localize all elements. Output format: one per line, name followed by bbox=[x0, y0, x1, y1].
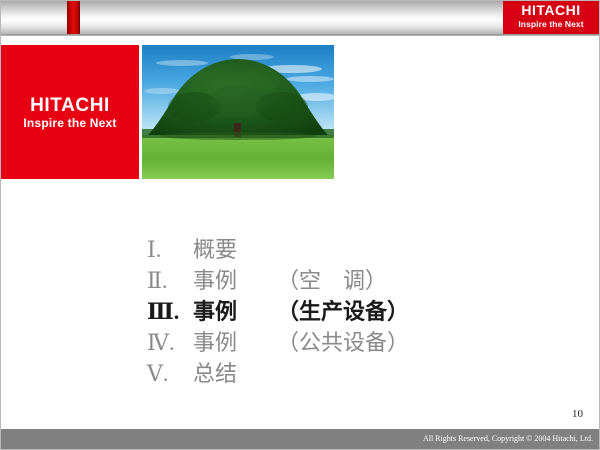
agenda-list: Ⅰ. 概要 Ⅱ. 事例 （空 调） Ⅲ. 事例 （生产设备） Ⅳ. 事例 （公共… bbox=[147, 232, 477, 387]
footer-bar: All Rights Reserved, Copyright © 2004 Hi… bbox=[1, 429, 600, 449]
header-logo-tagline: Inspire the Next bbox=[503, 19, 599, 30]
agenda-item-4-title: 事例 bbox=[193, 325, 277, 357]
agenda-item-1[interactable]: Ⅰ. 概要 bbox=[147, 232, 477, 263]
footer-copyright: All Rights Reserved, Copyright © 2004 Hi… bbox=[423, 434, 593, 443]
agenda-item-5-numeral: Ⅴ. bbox=[147, 361, 193, 387]
hero-row: HITACHI Inspire the Next bbox=[1, 45, 334, 179]
agenda-item-3-detail: （生产设备） bbox=[277, 294, 409, 326]
agenda-item-2-title: 事例 bbox=[193, 263, 277, 295]
agenda-item-5-title: 总结 bbox=[193, 356, 277, 388]
agenda-item-2-numeral: Ⅱ. bbox=[147, 268, 193, 294]
agenda-item-4-numeral: Ⅳ. bbox=[147, 330, 193, 356]
agenda-item-1-numeral: Ⅰ. bbox=[147, 237, 193, 263]
agenda-item-5[interactable]: Ⅴ. 总结 bbox=[147, 356, 477, 387]
header-underline bbox=[1, 34, 600, 36]
agenda-item-4-detail: （公共设备） bbox=[277, 325, 409, 357]
header-red-accent-tab bbox=[67, 1, 80, 34]
header-logo-wordmark: HITACHI bbox=[503, 2, 599, 19]
brand-tagline: Inspire the Next bbox=[1, 116, 139, 130]
brand-wordmark: HITACHI bbox=[1, 95, 139, 117]
page-number: 10 bbox=[572, 408, 583, 420]
brand-logo-block: HITACHI Inspire the Next bbox=[1, 45, 139, 179]
slide-canvas: HITACHI Inspire the Next HITACHI Inspire… bbox=[0, 0, 600, 450]
agenda-item-3[interactable]: Ⅲ. 事例 （生产设备） bbox=[147, 294, 477, 325]
agenda-item-1-title: 概要 bbox=[193, 232, 277, 264]
agenda-item-3-numeral: Ⅲ. bbox=[147, 299, 193, 325]
agenda-item-4[interactable]: Ⅳ. 事例 （公共设备） bbox=[147, 325, 477, 356]
agenda-item-2[interactable]: Ⅱ. 事例 （空 调） bbox=[147, 263, 477, 294]
agenda-item-2-detail: （空 调） bbox=[277, 263, 387, 295]
tree-photograph bbox=[142, 45, 334, 179]
header-hitachi-logo: HITACHI Inspire the Next bbox=[503, 1, 599, 34]
agenda-item-3-title: 事例 bbox=[193, 294, 277, 326]
